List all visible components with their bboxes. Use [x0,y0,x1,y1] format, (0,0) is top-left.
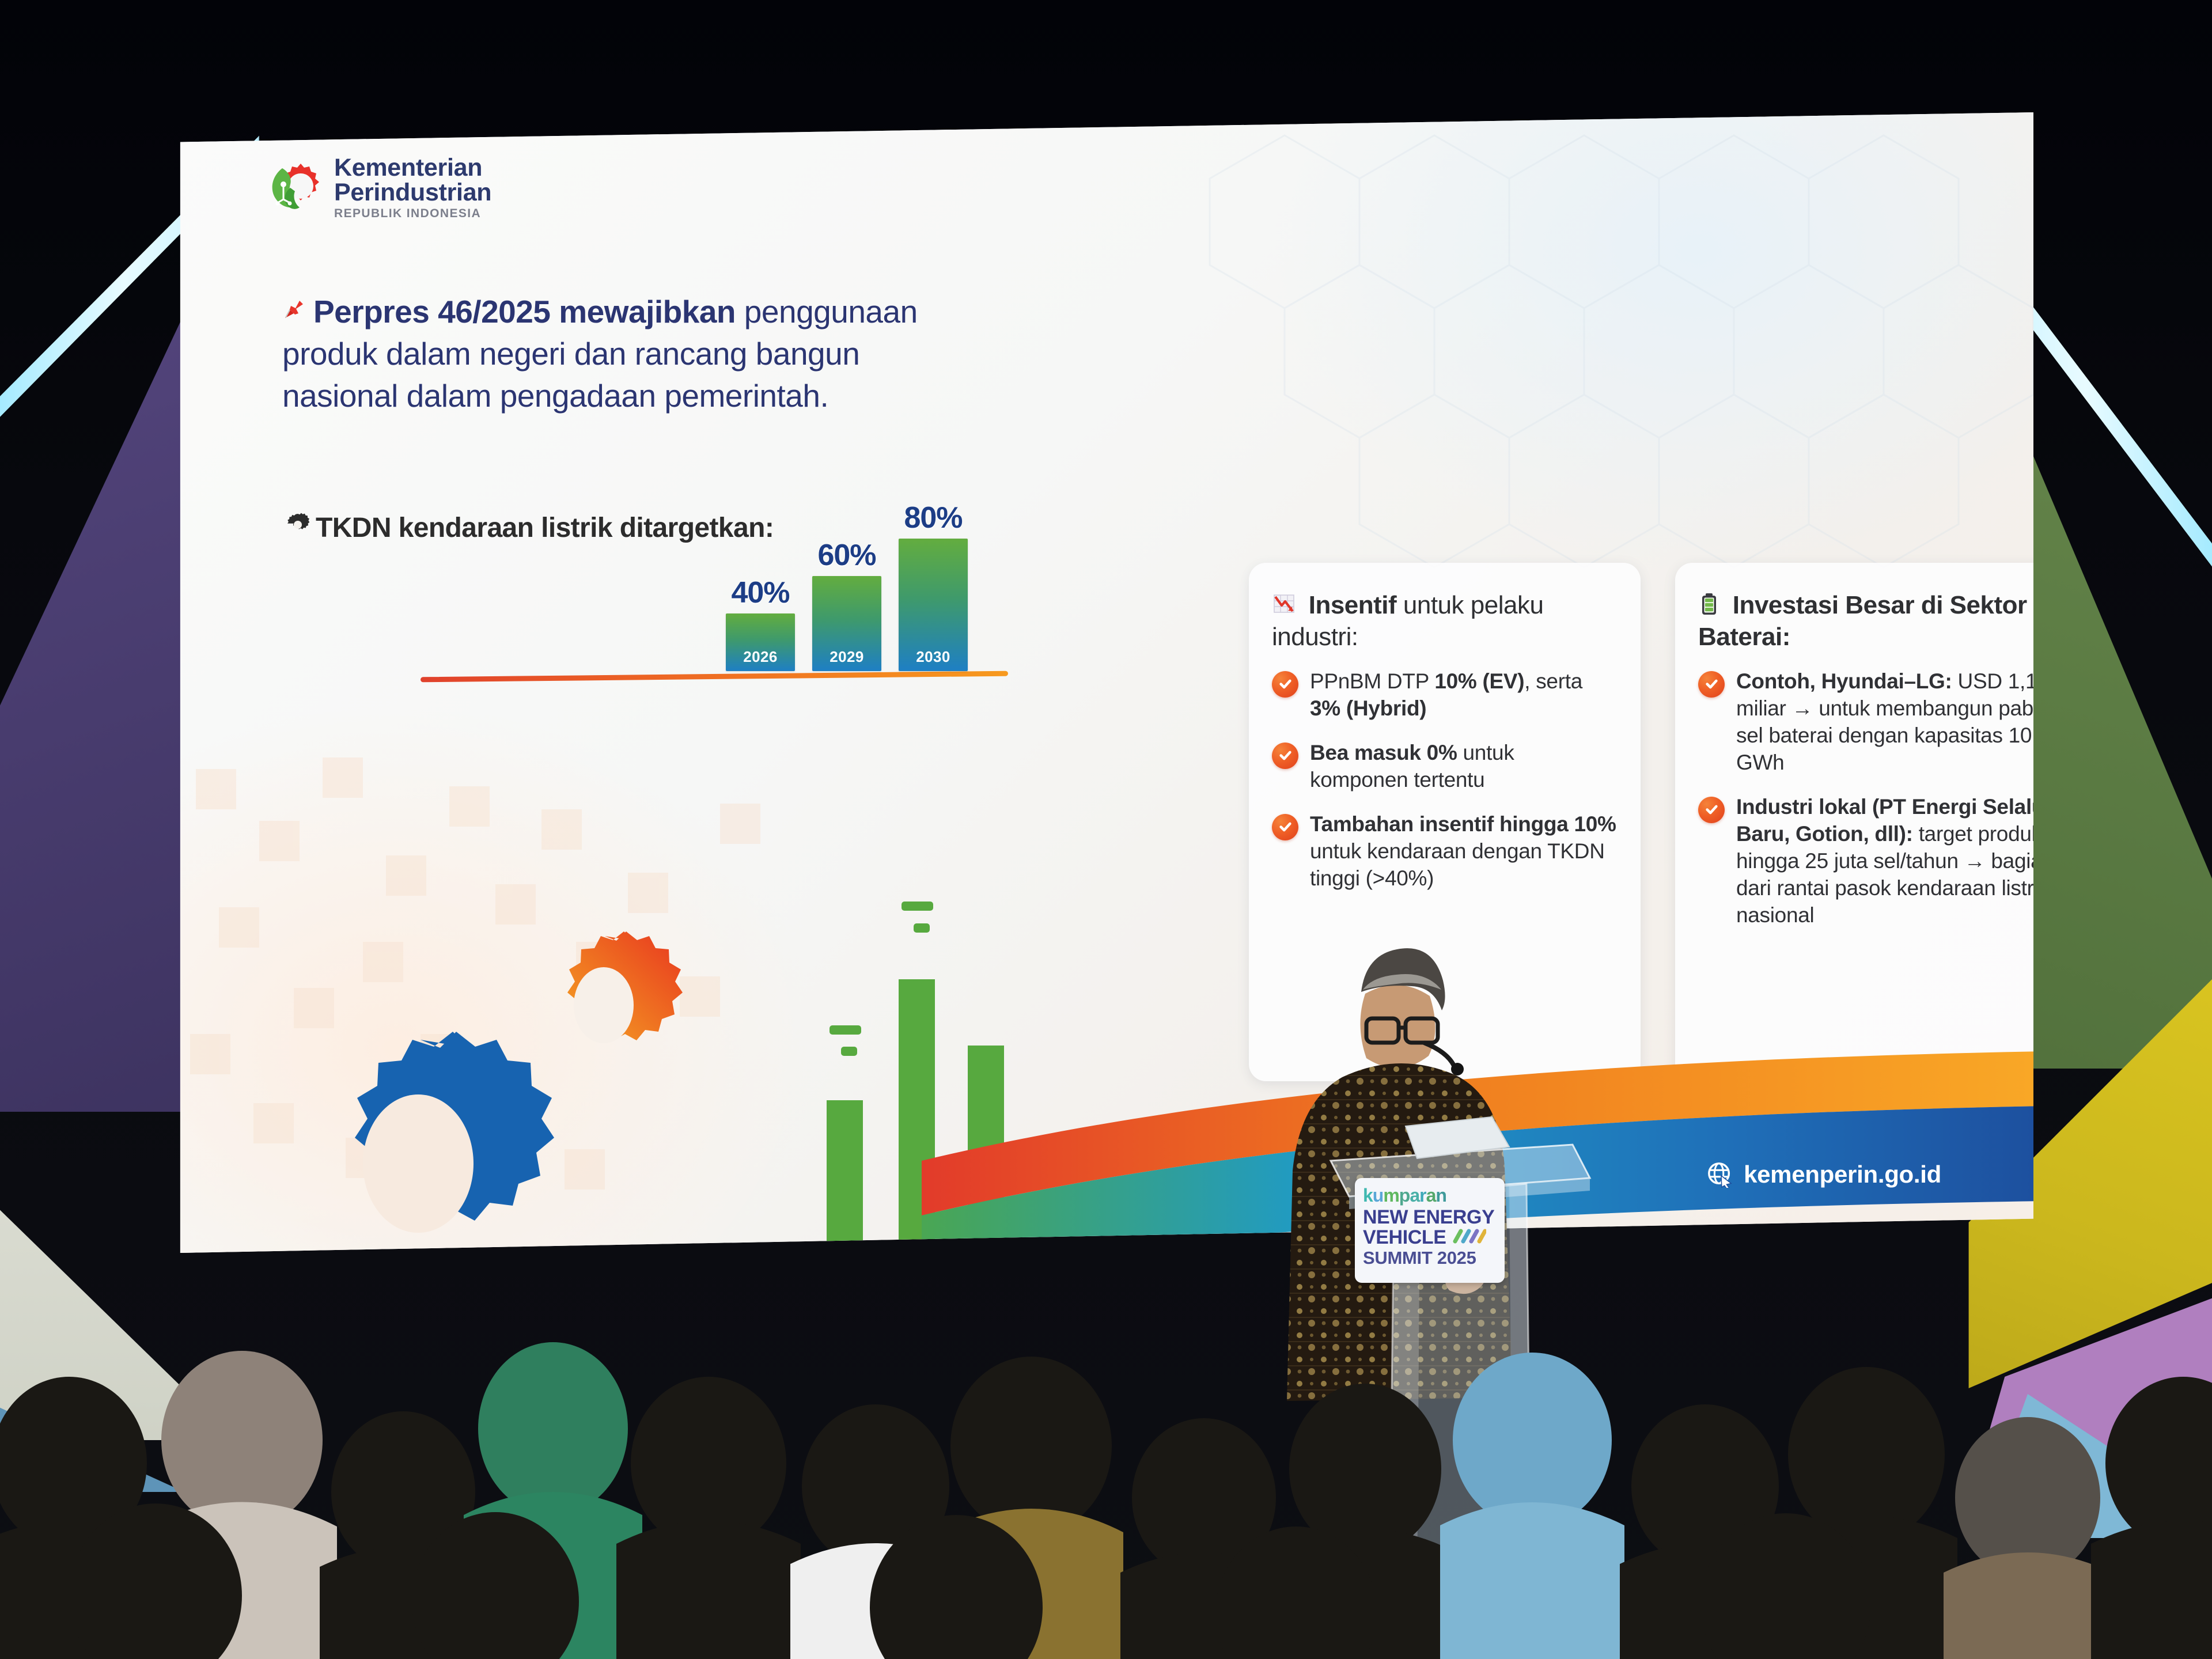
check-circle-icon [1272,743,1298,769]
photo-scene: Kementerian Perindustrian REPUBLIK INDON… [0,0,2212,1659]
bullet-text: Bea masuk 0% untuk komponen tertentu [1310,740,1616,794]
card-investasi-header: Investasi Besar di Sektor Baterai: [1698,589,2066,653]
kemenperin-logo-icon [265,159,323,217]
list-item: PPnBM DTP 10% (EV), serta 3% (Hybrid) [1272,668,1616,722]
bar-value-label: 80% [899,501,968,535]
list-item: Industri lokal (PT Energi Selalu Baru, G… [1698,794,2066,929]
bullet-text: Contoh, Hyundai–LG: USD 1,1 miliar → unt… [1736,668,2066,777]
chart-decreasing-icon [1272,591,1303,619]
slide-headline: Perpres 46/2025 mewajibkan penggunaan pr… [282,291,962,417]
check-circle-icon [1698,671,1725,698]
bar-rect: 2026 [726,613,795,671]
check-circle-icon [1698,797,1725,823]
check-circle-icon [1272,814,1298,840]
bar-group-2: 80% 2030 [899,501,968,671]
orange-gear-icon [567,931,683,1043]
battery-icon [1698,591,1727,619]
bar-category-label: 2029 [812,648,881,666]
logo-line-3: REPUBLIK INDONESIA [334,207,491,219]
card-investasi: Investasi Besar di Sektor Baterai: Conto… [1675,563,2090,1087]
logo-line-2: Perindustrian [334,180,491,205]
bar-group-1: 60% 2029 [812,538,881,671]
bar-value-label: 60% [812,538,881,573]
projection-screen: Kementerian Perindustrian REPUBLIK INDON… [173,112,2033,1253]
bullet-text: PPnBM DTP 10% (EV), serta 3% (Hybrid) [1310,668,1616,722]
card-insentif-title-bold: Insentif [1309,591,1396,619]
card-investasi-title-bold: Investasi Besar di Sektor Baterai: [1698,591,2027,651]
chart-baseline [421,671,1008,683]
logo-line-1: Kementerian [334,156,491,180]
gear-icon [286,510,310,547]
bar-category-label: 2030 [899,648,968,666]
bar-rect: 2030 [899,539,968,671]
bar-group-0: 40% 2026 [726,575,795,671]
bullet-text: Industri lokal (PT Energi Selalu Baru, G… [1736,794,2066,929]
headline-bold: Perpres 46/2025 mewajibkan [313,294,736,329]
bar-value-label: 40% [726,575,795,610]
tkdn-bar-chart: 40% 2026 60% 2029 80% 2030 [691,475,1002,671]
list-item: Bea masuk 0% untuk komponen tertentu [1272,740,1616,794]
pushpin-icon [282,291,308,333]
audience-silhouettes [0,1141,2212,1659]
slide-canvas: Kementerian Perindustrian REPUBLIK INDON… [173,112,2033,1253]
bar-rect: 2029 [812,576,881,671]
check-circle-icon [1272,671,1298,698]
card-insentif-header: Insentif untuk pelaku industri: [1272,589,1616,653]
bar-category-label: 2026 [726,648,795,666]
list-item: Contoh, Hyundai–LG: USD 1,1 miliar → unt… [1698,668,2066,777]
ministry-logo: Kementerian Perindustrian REPUBLIK INDON… [265,156,491,219]
